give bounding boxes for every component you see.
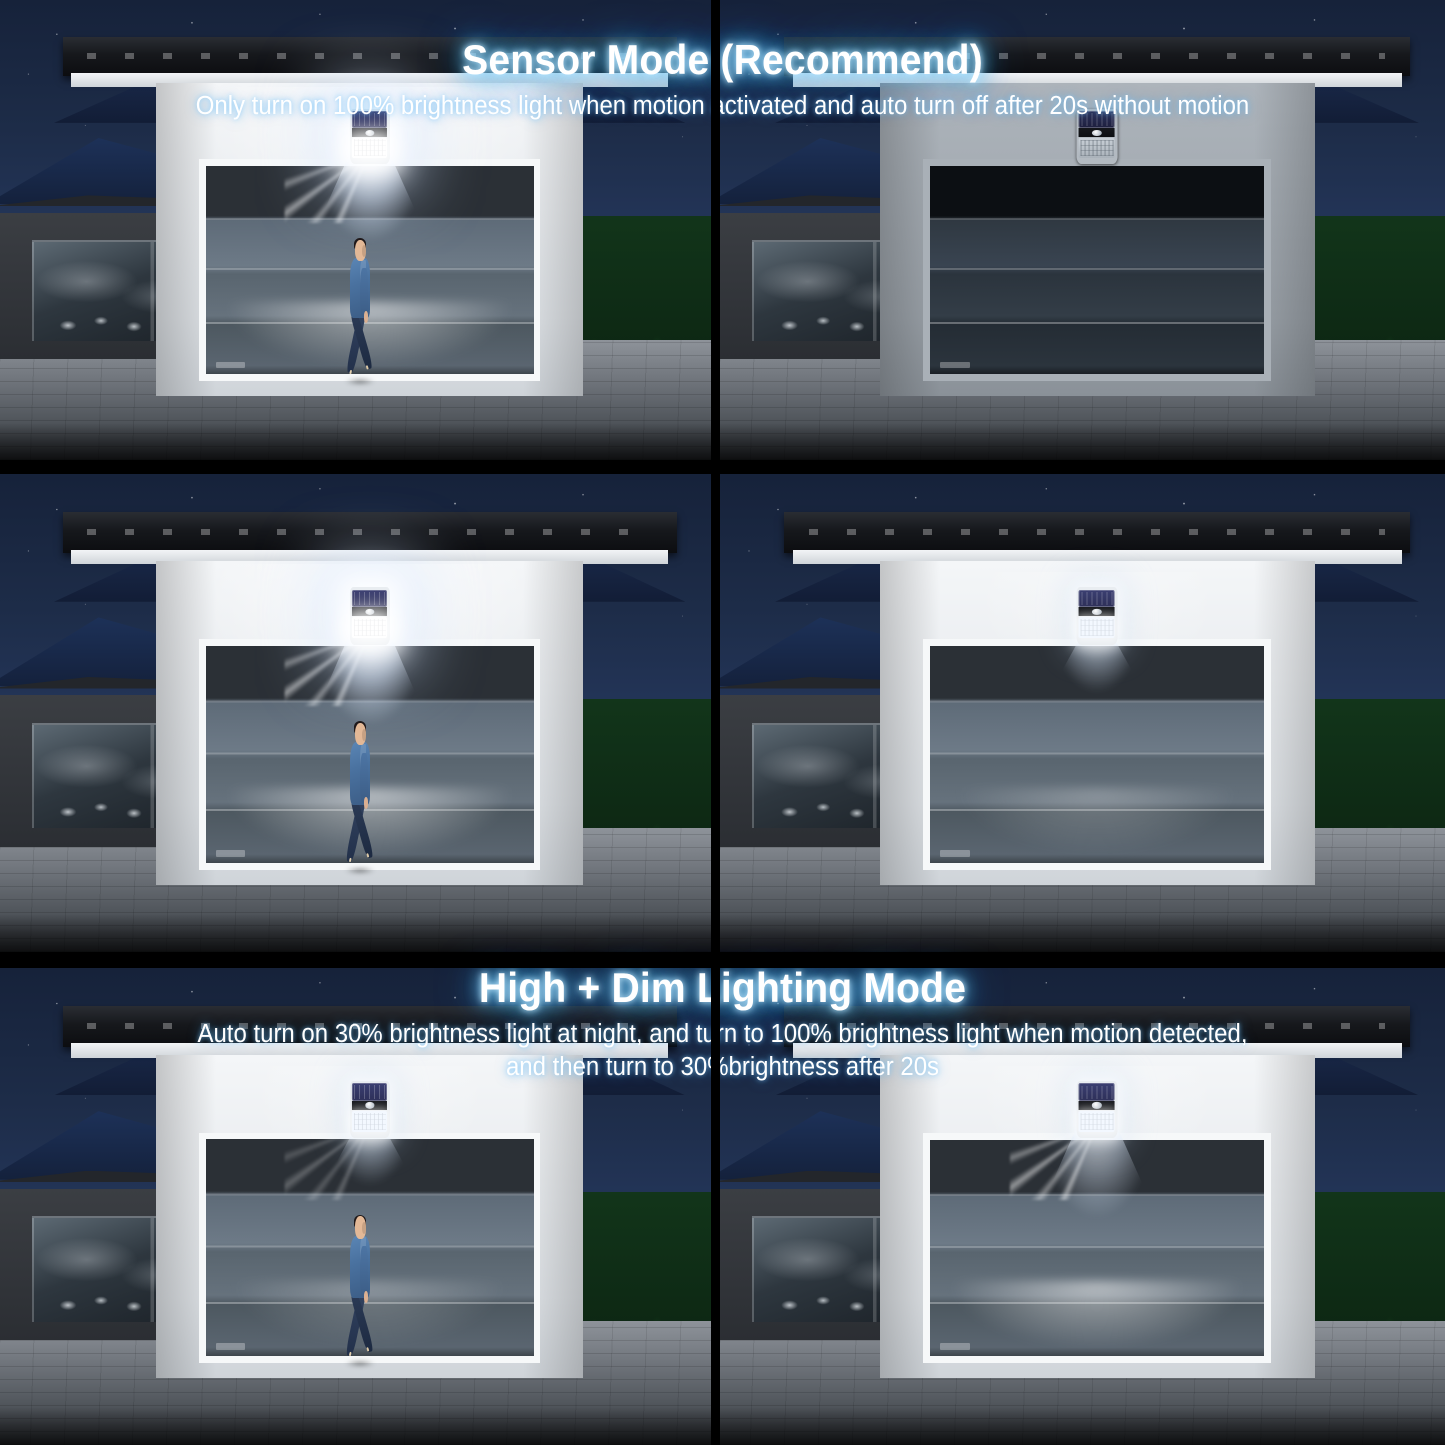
driveway-shadow: [0, 1407, 711, 1445]
garage-door: [930, 1140, 1264, 1357]
led-panel: [1079, 1111, 1115, 1132]
garage-building: [156, 512, 583, 885]
roof-fascia: [63, 512, 677, 553]
roof-fascia: [784, 1006, 1410, 1047]
solar-panel-light: [1077, 1081, 1118, 1139]
walking-person: [342, 1216, 377, 1365]
led-panel: [1079, 617, 1115, 638]
solar-panel: [352, 1083, 387, 1101]
scene-sensor-mode-no-motion: [720, 0, 1445, 460]
driveway-shadow: [720, 1407, 1445, 1445]
driveway-shadow: [0, 423, 711, 460]
garage-door-frame: [923, 639, 1271, 870]
solar-panel: [1079, 111, 1115, 128]
garage-building: [880, 37, 1315, 396]
driveway-shadow: [720, 423, 1445, 460]
solar-panel: [352, 111, 387, 128]
driveway-shadow: [0, 914, 711, 952]
solar-panel-light: [350, 587, 390, 645]
garage-building: [880, 512, 1315, 885]
roof-fascia: [784, 37, 1410, 76]
panel-high-dim-lighting-mode: High + Dim Lighting Mode Auto turn on 30…: [0, 474, 1445, 952]
solar-panel: [1079, 1083, 1115, 1101]
pir-sensor-icon: [1092, 609, 1101, 615]
led-panel: [1079, 138, 1115, 158]
walking-person: [342, 723, 377, 872]
scene-sensor-mode-motion-activated: [0, 0, 711, 460]
panel-divider-vertical: [711, 0, 720, 460]
solar-panel-light: [1077, 109, 1118, 165]
walking-person: [342, 240, 377, 384]
garage-building: [880, 1006, 1315, 1378]
solar-panel-light: [350, 109, 390, 165]
garage-building: [156, 37, 583, 396]
pir-sensor-icon: [365, 130, 374, 136]
panel-divider-vertical: [711, 474, 720, 952]
led-panel: [352, 138, 387, 158]
driveway-shadow: [720, 914, 1445, 952]
panel-divider-vertical: [711, 968, 720, 1445]
panel-sensor-mode: Sensor Mode (Recommend) Only turn on 100…: [0, 0, 1445, 460]
pir-sensor-icon: [1092, 130, 1101, 136]
garage-door: [930, 646, 1264, 863]
roof-fascia: [784, 512, 1410, 553]
garage-door: [930, 166, 1264, 375]
scene-high-dim-standby: [720, 474, 1445, 952]
roof-fascia: [63, 37, 677, 76]
pir-sensor-icon: [365, 1102, 374, 1108]
scene-constant-right: [720, 968, 1445, 1445]
panel-constant-lighting-mode: Constant Lighting Mode Solar lights auto…: [0, 968, 1445, 1445]
solar-panel: [1079, 590, 1115, 608]
panel-divider-horizontal: [0, 952, 1445, 968]
scene-constant-left: [0, 968, 711, 1445]
led-panel: [352, 1111, 387, 1132]
roof-fascia: [63, 1006, 677, 1047]
solar-panel-light: [1077, 587, 1118, 645]
pir-sensor-icon: [365, 609, 374, 615]
garage-building: [156, 1006, 583, 1378]
panel-divider-horizontal: [0, 460, 1445, 474]
pir-sensor-icon: [1092, 1102, 1101, 1108]
led-panel: [352, 617, 387, 638]
infographic-sheet: Sensor Mode (Recommend) Only turn on 100…: [0, 0, 1445, 1445]
solar-panel-light: [350, 1081, 390, 1139]
garage-door-frame: [923, 159, 1271, 381]
solar-panel: [352, 590, 387, 608]
scene-high-dim-motion-detected: [0, 474, 711, 952]
garage-door-frame: [923, 1133, 1271, 1364]
